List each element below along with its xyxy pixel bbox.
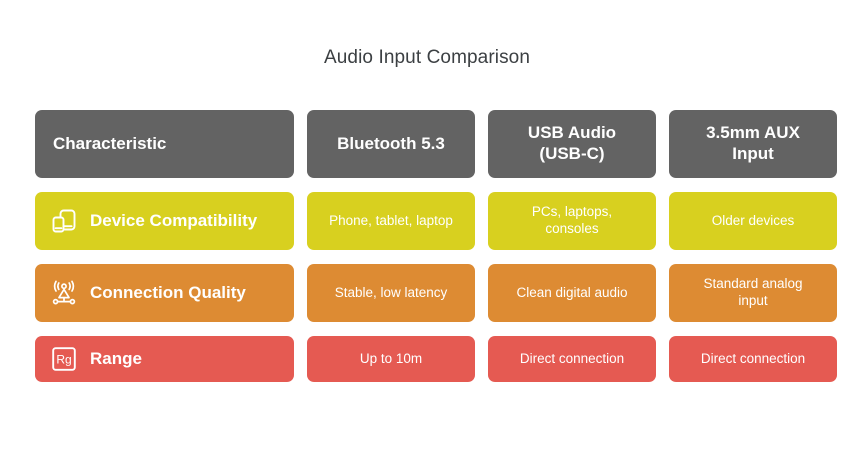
table-row-device-compatibility: Device Compatibility Phone, tablet, lapt… xyxy=(35,192,810,250)
row-label-text: Range xyxy=(90,349,142,369)
cell-connection-quality-bluetooth: Stable, low latency xyxy=(307,264,475,322)
comparison-table-page: Audio Input Comparison Characteristic Bl… xyxy=(0,0,854,450)
header-cell-characteristic: Characteristic xyxy=(35,110,294,178)
row-label-connection-quality: Connection Quality xyxy=(35,264,294,322)
cell-device-compatibility-aux-input: Older devices xyxy=(669,192,837,250)
cell-connection-quality-aux-input: Standard analoginput xyxy=(669,264,837,322)
comparison-table: Characteristic Bluetooth 5.3 USB Audio(U… xyxy=(35,110,810,382)
cell-range-bluetooth: Up to 10m xyxy=(307,336,475,382)
row-label-text: Device Compatibility xyxy=(90,211,257,231)
cell-device-compatibility-bluetooth: Phone, tablet, laptop xyxy=(307,192,475,250)
header-cell-usb-audio: USB Audio(USB-C) xyxy=(488,110,656,178)
row-label-text: Connection Quality xyxy=(90,283,246,303)
devices-phone-tablet-icon xyxy=(49,206,79,236)
antenna-broadcast-tower-icon xyxy=(49,278,79,308)
cell-range-aux-input: Direct connection xyxy=(669,336,837,382)
table-row-range: Rg Range Up to 10m Direct connection Dir… xyxy=(35,336,810,382)
row-label-device-compatibility: Device Compatibility xyxy=(35,192,294,250)
row-label-range: Rg Range xyxy=(35,336,294,382)
header-cell-bluetooth: Bluetooth 5.3 xyxy=(307,110,475,178)
header-cell-aux-input: 3.5mm AUXInput xyxy=(669,110,837,178)
page-title: Audio Input Comparison xyxy=(0,47,854,69)
table-row-connection-quality: Connection Quality Stable, low latency C… xyxy=(35,264,810,322)
table-header-row: Characteristic Bluetooth 5.3 USB Audio(U… xyxy=(35,110,810,178)
rg-placeholder-icon: Rg xyxy=(49,344,79,374)
rg-icon-text: Rg xyxy=(56,353,71,367)
cell-connection-quality-usb-audio: Clean digital audio xyxy=(488,264,656,322)
cell-range-usb-audio: Direct connection xyxy=(488,336,656,382)
cell-device-compatibility-usb-audio: PCs, laptops,consoles xyxy=(488,192,656,250)
